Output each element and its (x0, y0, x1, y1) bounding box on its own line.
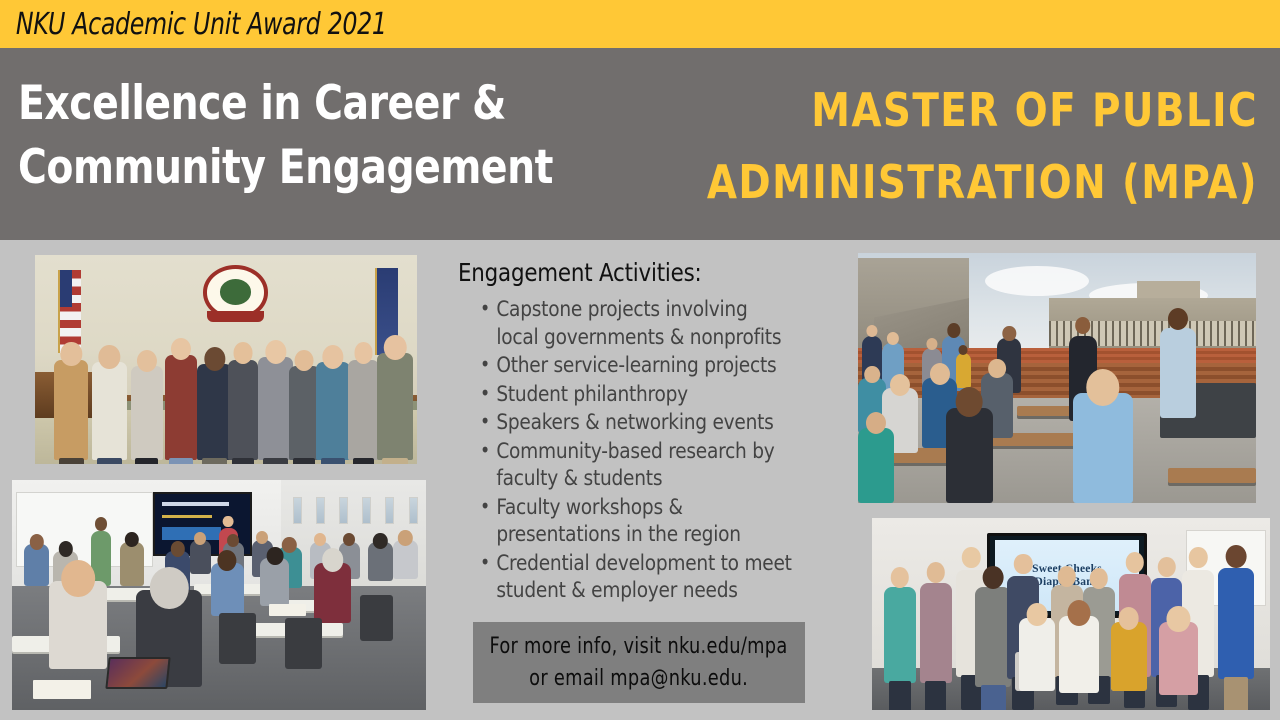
person-head (373, 533, 387, 549)
attendee (49, 581, 107, 668)
person-legs (293, 458, 315, 464)
person-head (30, 534, 44, 550)
list-item: Faculty workshops & presentations in the… (480, 494, 795, 549)
list-item: Credential development to meet student &… (480, 550, 795, 605)
person-head (983, 566, 1004, 589)
person-legs (169, 458, 192, 464)
header-band: Excellence in Career & Community Engagem… (0, 48, 1280, 240)
person-head (947, 323, 960, 338)
person-legs (232, 458, 254, 464)
person-head (891, 567, 909, 588)
person (228, 360, 259, 460)
person-head (227, 534, 239, 547)
attendee (1073, 393, 1133, 503)
us-flag-icon (58, 270, 81, 354)
chair (360, 595, 393, 641)
person-head (926, 338, 937, 350)
person-head (1027, 603, 1048, 626)
person-head (234, 342, 253, 363)
person-head (926, 562, 944, 583)
person-head (956, 387, 983, 416)
person-head (1086, 369, 1119, 406)
person-legs (925, 681, 947, 710)
photo-rooftop-gathering (858, 253, 1256, 503)
activities-heading: Engagement Activities: (458, 258, 791, 287)
person-head (887, 332, 899, 345)
attendee (24, 544, 49, 585)
window (409, 497, 418, 525)
seated-person (1059, 616, 1099, 693)
person-head (930, 363, 950, 385)
person-legs (97, 458, 122, 464)
person (316, 362, 350, 460)
seal-banner (207, 311, 264, 321)
person-head (1168, 308, 1188, 330)
person (258, 357, 292, 459)
person-head (218, 550, 237, 571)
person-head (1090, 568, 1108, 589)
paper (33, 680, 91, 698)
award-title: Excellence in Career & Community Engagem… (18, 72, 576, 200)
person-head (194, 532, 206, 545)
attendee (211, 563, 244, 616)
attendee (120, 542, 145, 586)
program-title-line-1: MASTER OF PUBLIC (656, 74, 1258, 146)
engagement-activities: Engagement Activities: Capstone projects… (458, 258, 808, 606)
person (348, 360, 379, 460)
person-head (256, 531, 268, 544)
list-item: Student philanthropy (480, 381, 795, 409)
list-item: Other service-learning projects (480, 352, 795, 380)
activities-list: Capstone projects involving local govern… (458, 296, 808, 605)
person-head (95, 517, 107, 530)
person-head (282, 537, 296, 553)
list-item: Community-based research by faculty & st… (480, 438, 795, 493)
person-head (962, 547, 980, 568)
window (316, 497, 325, 525)
person (92, 362, 126, 460)
chair (219, 613, 256, 664)
poster-slide: NKU Academic Unit Award 2021 Excellence … (0, 0, 1280, 720)
person-head (1189, 547, 1207, 568)
person-head (864, 366, 880, 383)
person-head (314, 533, 326, 546)
person-head (1167, 606, 1190, 632)
person-head (265, 340, 286, 364)
person-head (1014, 554, 1032, 575)
attendee (368, 542, 393, 581)
slide-text-line (162, 515, 212, 518)
person (131, 366, 163, 460)
person-head (223, 516, 234, 528)
more-info-box: For more info, visit nku.edu/mpa or emai… (473, 622, 805, 703)
cloud (985, 266, 1088, 296)
window (293, 497, 302, 525)
person-head (150, 567, 188, 609)
person-head (1058, 566, 1076, 587)
person-legs (202, 458, 227, 464)
person-head (988, 359, 1006, 379)
laptop (106, 657, 171, 689)
person (377, 353, 413, 460)
person-head (137, 350, 157, 373)
person-legs (59, 458, 84, 464)
person (920, 583, 952, 683)
award-bar: NKU Academic Unit Award 2021 (0, 0, 1280, 48)
person (197, 364, 231, 460)
chair (285, 618, 322, 669)
attendee (858, 428, 894, 503)
list-item: Capstone projects involving local govern… (480, 296, 795, 351)
attendee (190, 540, 211, 575)
more-info-line-1: For more info, visit nku.edu/mpa (490, 631, 788, 663)
attendee (260, 558, 289, 606)
program-title: MASTER OF PUBLIC ADMINISTRATION (MPA) (656, 74, 1258, 218)
award-title-line-2: Community Engagement (18, 136, 576, 200)
person-head (1125, 552, 1143, 573)
window (362, 497, 371, 525)
person-head (398, 530, 412, 546)
person (54, 360, 88, 460)
bench (1168, 468, 1256, 483)
person-head (1075, 317, 1091, 334)
person-legs (889, 681, 911, 710)
attendee (314, 563, 351, 623)
person (165, 355, 197, 460)
person-head (170, 541, 184, 557)
person-legs (353, 458, 375, 464)
person-head (384, 335, 406, 360)
person-head (354, 342, 373, 363)
list-item: Speakers & networking events (480, 409, 795, 437)
person-head (959, 345, 968, 355)
person-head (343, 533, 355, 546)
speaker (1160, 328, 1196, 418)
person (975, 587, 1011, 687)
person-head (866, 412, 886, 434)
person-head (125, 532, 139, 548)
person-head (890, 374, 910, 396)
program-title-line-2: ADMINISTRATION (MPA) (656, 146, 1258, 218)
person-head (322, 548, 344, 572)
award-title-line-1: Excellence in Career & (18, 72, 576, 136)
person-legs (263, 458, 288, 464)
person-legs (135, 458, 158, 464)
person-head (204, 347, 225, 371)
person-head (322, 345, 343, 369)
person-head (1118, 607, 1139, 630)
person (884, 587, 916, 683)
person (289, 366, 320, 460)
person-head (61, 342, 82, 366)
more-info-line-2: or email mpa@nku.edu. (530, 663, 749, 695)
person-head (1003, 326, 1016, 341)
seated-person (1159, 622, 1199, 695)
photo-classroom-workshop (12, 480, 426, 710)
paper (269, 604, 306, 616)
person-head (1157, 557, 1175, 578)
seated-person (1019, 618, 1055, 691)
person-head (99, 345, 120, 369)
person-head (171, 338, 191, 361)
person-head (61, 560, 95, 597)
person-legs (382, 458, 408, 464)
seated-person (1111, 622, 1147, 691)
window (339, 497, 348, 525)
photo-council-chamber-group (35, 255, 417, 464)
attendee (956, 353, 972, 388)
person-legs (1224, 677, 1248, 710)
window (385, 497, 394, 525)
person-legs (981, 685, 1005, 710)
photo-diaper-bank-class: Sweet Cheeks Diaper Bank (872, 518, 1270, 710)
attendee (946, 408, 994, 503)
person-head (1226, 545, 1247, 568)
attendee (393, 540, 418, 579)
person-head (295, 350, 314, 371)
person-legs (321, 458, 346, 464)
person-head (1067, 600, 1090, 626)
person-head (266, 547, 283, 565)
person-head (59, 541, 73, 557)
award-bar-text: NKU Academic Unit Award 2021 (0, 7, 387, 42)
person (1218, 568, 1254, 679)
